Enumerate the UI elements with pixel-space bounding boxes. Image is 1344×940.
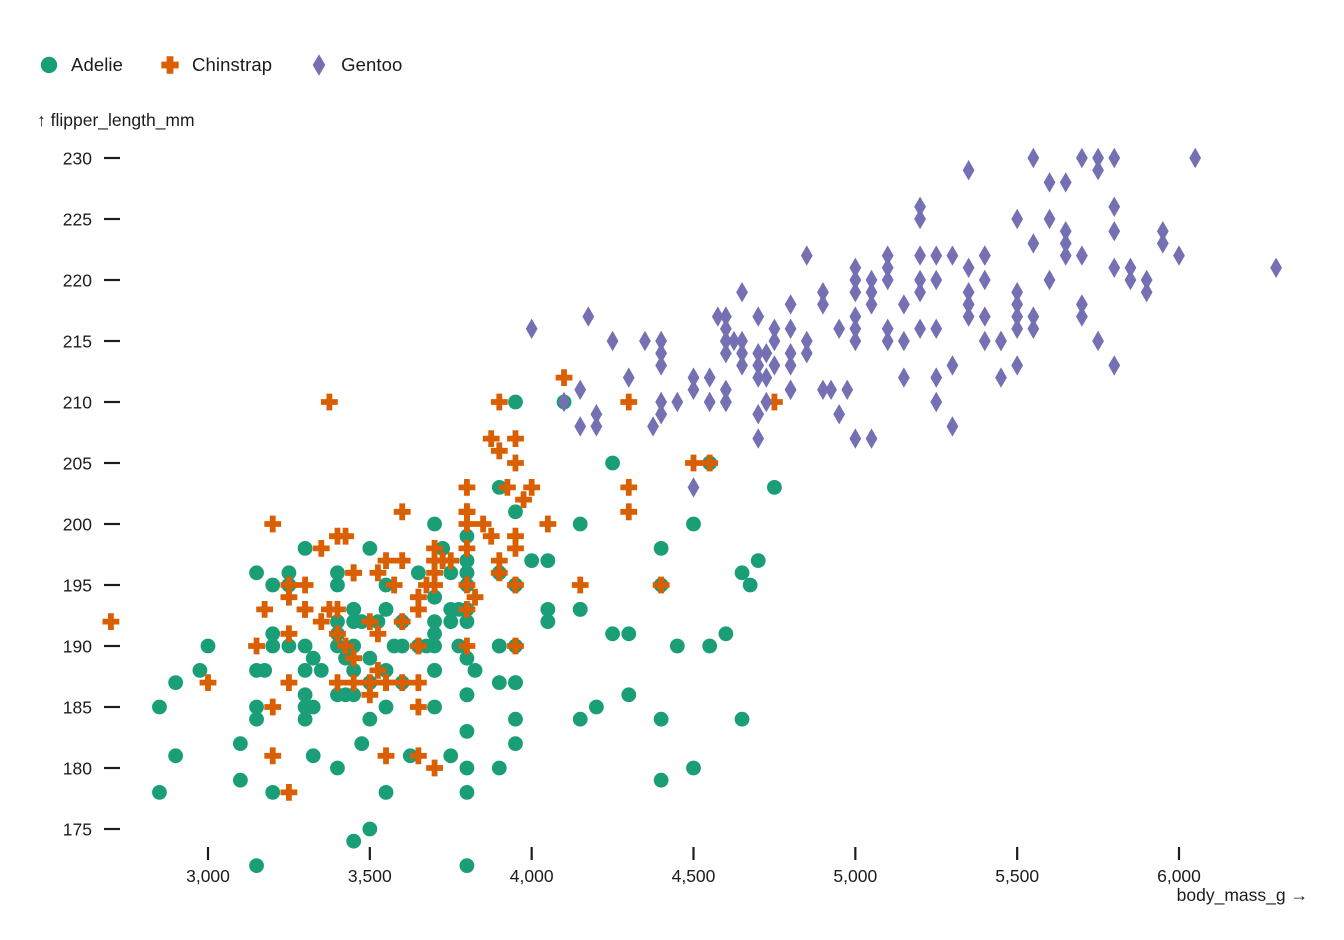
data-point-adelie	[306, 651, 321, 666]
data-point-gentoo	[1044, 209, 1056, 229]
data-point-chinstrap	[620, 394, 637, 411]
y-tick-label: 200	[63, 515, 92, 535]
data-point-adelie	[427, 614, 442, 629]
data-point-gentoo	[833, 319, 845, 339]
data-point-gentoo	[688, 367, 700, 387]
data-point-chinstrap	[313, 540, 330, 557]
data-point-adelie	[735, 712, 750, 727]
data-point-gentoo	[769, 331, 781, 351]
data-point-gentoo	[785, 355, 797, 375]
data-point-gentoo	[574, 380, 586, 400]
data-point-adelie	[492, 761, 507, 776]
data-point-chinstrap	[620, 503, 637, 520]
data-point-gentoo	[898, 331, 910, 351]
data-point-adelie	[298, 700, 313, 715]
data-point-gentoo	[963, 282, 975, 302]
data-point-chinstrap	[556, 369, 573, 386]
data-point-gentoo	[1141, 270, 1153, 290]
data-point-gentoo	[752, 428, 764, 448]
data-point-gentoo	[1173, 245, 1185, 265]
x-tick-label: 3,500	[348, 866, 392, 886]
data-point-gentoo	[1076, 245, 1088, 265]
data-point-adelie	[460, 761, 475, 776]
data-point-chinstrap	[248, 638, 265, 655]
data-point-gentoo	[1108, 221, 1120, 241]
data-point-gentoo	[1189, 148, 1201, 168]
data-point-gentoo	[736, 282, 748, 302]
data-point-adelie	[743, 578, 758, 593]
data-point-chinstrap	[491, 552, 508, 569]
data-point-gentoo	[833, 404, 845, 424]
data-point-chinstrap	[394, 674, 411, 691]
data-point-gentoo	[841, 380, 853, 400]
data-point-adelie	[395, 639, 410, 654]
data-point-adelie	[735, 565, 750, 580]
data-point-adelie	[265, 785, 280, 800]
data-point-chinstrap	[321, 394, 338, 411]
x-tick-label: 6,000	[1157, 866, 1201, 886]
data-point-adelie	[249, 712, 264, 727]
data-point-gentoo	[526, 319, 538, 339]
x-tick-label: 5,000	[833, 866, 877, 886]
data-point-adelie	[362, 651, 377, 666]
data-point-adelie	[702, 639, 717, 654]
data-point-chinstrap	[378, 747, 395, 764]
data-point-gentoo	[930, 392, 942, 412]
data-point-chinstrap	[507, 577, 524, 594]
y-tick-label: 195	[63, 576, 92, 596]
y-tick-label: 225	[63, 210, 92, 230]
data-point-gentoo	[720, 392, 732, 412]
data-point-gentoo	[574, 416, 586, 436]
data-point-adelie	[605, 456, 620, 471]
series-adelie	[152, 395, 782, 873]
series-chinstrap	[103, 369, 783, 801]
data-point-gentoo	[1125, 270, 1137, 290]
data-point-gentoo	[979, 306, 991, 326]
data-point-adelie	[257, 663, 272, 678]
y-axis: 175180185190195200205210215220225230	[63, 149, 120, 840]
data-point-gentoo	[930, 319, 942, 339]
data-point-gentoo	[1011, 209, 1023, 229]
data-point-adelie	[460, 687, 475, 702]
data-point-adelie	[508, 395, 523, 410]
data-point-chinstrap	[459, 503, 476, 520]
data-point-adelie	[306, 748, 321, 763]
data-point-adelie	[589, 700, 604, 715]
data-point-adelie	[443, 748, 458, 763]
data-point-chinstrap	[459, 479, 476, 496]
data-point-gentoo	[930, 245, 942, 265]
data-point-adelie	[605, 626, 620, 641]
data-point-chinstrap	[539, 516, 556, 533]
data-point-gentoo	[1027, 148, 1039, 168]
y-tick-label: 185	[63, 698, 92, 718]
data-point-gentoo	[1011, 282, 1023, 302]
data-point-adelie	[460, 785, 475, 800]
data-point-gentoo	[1011, 355, 1023, 375]
data-point-gentoo	[947, 355, 959, 375]
y-tick-label: 210	[63, 393, 92, 413]
data-point-gentoo	[1108, 148, 1120, 168]
data-point-gentoo	[866, 428, 878, 448]
data-point-adelie	[298, 639, 313, 654]
y-tick-label: 175	[63, 820, 92, 840]
data-point-adelie	[354, 736, 369, 751]
data-point-adelie	[379, 602, 394, 617]
data-point-adelie	[298, 541, 313, 556]
data-point-adelie	[152, 785, 167, 800]
data-point-adelie	[460, 724, 475, 739]
data-point-chinstrap	[620, 479, 637, 496]
data-point-chinstrap	[685, 455, 702, 472]
data-point-chinstrap	[394, 552, 411, 569]
data-point-adelie	[508, 504, 523, 519]
data-point-adelie	[508, 736, 523, 751]
data-point-adelie	[427, 517, 442, 532]
data-point-gentoo	[914, 197, 926, 217]
data-point-chinstrap	[701, 455, 718, 472]
data-point-gentoo	[655, 404, 667, 424]
data-point-chinstrap	[459, 540, 476, 557]
x-axis: 3,0003,5004,0004,5005,0005,5006,000	[186, 847, 1201, 886]
data-point-adelie	[193, 663, 208, 678]
data-point-gentoo	[720, 306, 732, 326]
data-point-gentoo	[979, 270, 991, 290]
data-point-adelie	[362, 822, 377, 837]
data-point-chinstrap	[394, 503, 411, 520]
data-point-adelie	[524, 553, 539, 568]
data-point-adelie	[468, 663, 483, 678]
data-point-gentoo	[1076, 306, 1088, 326]
data-point-gentoo	[688, 477, 700, 497]
data-point-gentoo	[801, 245, 813, 265]
data-point-gentoo	[1060, 172, 1072, 192]
data-point-gentoo	[817, 380, 829, 400]
data-point-chinstrap	[264, 747, 281, 764]
data-point-gentoo	[947, 245, 959, 265]
data-point-adelie	[362, 541, 377, 556]
data-point-adelie	[492, 639, 507, 654]
data-point-adelie	[654, 773, 669, 788]
data-point-gentoo	[1044, 270, 1056, 290]
data-point-gentoo	[914, 245, 926, 265]
data-point-adelie	[540, 553, 555, 568]
data-point-adelie	[767, 480, 782, 495]
data-point-adelie	[379, 785, 394, 800]
data-point-adelie	[152, 700, 167, 715]
data-point-chinstrap	[491, 394, 508, 411]
data-point-adelie	[460, 858, 475, 873]
data-point-chinstrap	[256, 601, 273, 618]
data-point-chinstrap	[281, 577, 298, 594]
data-point-gentoo	[849, 306, 861, 326]
data-point-adelie	[346, 834, 361, 849]
data-point-gentoo	[752, 355, 764, 375]
data-point-gentoo	[558, 392, 570, 412]
data-point-gentoo	[947, 416, 959, 436]
data-point-adelie	[654, 541, 669, 556]
data-point-adelie	[686, 761, 701, 776]
data-point-adelie	[508, 712, 523, 727]
y-tick-label: 230	[63, 149, 92, 169]
data-point-gentoo	[979, 245, 991, 265]
data-point-chinstrap	[297, 577, 314, 594]
data-point-adelie	[201, 639, 216, 654]
data-point-gentoo	[1092, 331, 1104, 351]
data-point-adelie	[362, 712, 377, 727]
data-point-gentoo	[817, 282, 829, 302]
data-point-chinstrap	[410, 699, 427, 716]
x-tick-label: 3,000	[186, 866, 230, 886]
data-point-gentoo	[623, 367, 635, 387]
data-point-chinstrap	[507, 455, 524, 472]
data-point-adelie	[686, 517, 701, 532]
data-point-adelie	[540, 614, 555, 629]
data-point-adelie	[233, 736, 248, 751]
data-point-gentoo	[963, 258, 975, 278]
data-point-chinstrap	[394, 613, 411, 630]
data-point-chinstrap	[281, 625, 298, 642]
data-point-gentoo	[995, 367, 1007, 387]
data-point-adelie	[427, 663, 442, 678]
data-point-gentoo	[752, 306, 764, 326]
data-point-adelie	[314, 663, 329, 678]
data-point-adelie	[411, 565, 426, 580]
data-point-gentoo	[655, 343, 667, 363]
data-marks	[103, 148, 1283, 873]
x-tick-label: 4,500	[672, 866, 716, 886]
data-point-gentoo	[882, 258, 894, 278]
plot-area: 175180185190195200205210215220225230 3,0…	[0, 0, 1344, 940]
y-tick-label: 215	[63, 332, 92, 352]
data-point-chinstrap	[297, 601, 314, 618]
data-point-adelie	[249, 858, 264, 873]
data-point-gentoo	[849, 258, 861, 278]
data-point-gentoo	[647, 416, 659, 436]
data-point-adelie	[330, 761, 345, 776]
data-point-gentoo	[898, 294, 910, 314]
data-point-chinstrap	[264, 516, 281, 533]
data-point-adelie	[654, 712, 669, 727]
data-point-gentoo	[930, 367, 942, 387]
data-point-gentoo	[849, 282, 861, 302]
data-point-gentoo	[1108, 258, 1120, 278]
data-point-gentoo	[785, 294, 797, 314]
data-point-adelie	[751, 553, 766, 568]
y-tick-label: 220	[63, 271, 92, 291]
data-point-gentoo	[760, 343, 772, 363]
data-point-adelie	[379, 700, 394, 715]
data-point-chinstrap	[345, 564, 362, 581]
data-point-gentoo	[769, 355, 781, 375]
data-point-chinstrap	[264, 699, 281, 716]
data-point-gentoo	[1157, 233, 1169, 253]
data-point-gentoo	[671, 392, 683, 412]
data-point-chinstrap	[281, 784, 298, 801]
data-point-chinstrap	[572, 577, 589, 594]
data-point-gentoo	[914, 319, 926, 339]
y-tick-label: 180	[63, 759, 92, 779]
data-point-adelie	[298, 663, 313, 678]
data-point-gentoo	[882, 319, 894, 339]
data-point-adelie	[573, 517, 588, 532]
data-point-gentoo	[849, 428, 861, 448]
data-point-chinstrap	[426, 760, 443, 777]
data-point-gentoo	[639, 331, 651, 351]
data-point-gentoo	[704, 367, 716, 387]
data-point-gentoo	[979, 331, 991, 351]
y-tick-label: 190	[63, 637, 92, 657]
data-point-gentoo	[1108, 197, 1120, 217]
data-point-adelie	[492, 675, 507, 690]
data-point-gentoo	[963, 306, 975, 326]
data-point-gentoo	[785, 319, 797, 339]
data-point-adelie	[168, 675, 183, 690]
data-point-gentoo	[1076, 148, 1088, 168]
data-point-gentoo	[591, 416, 603, 436]
data-point-gentoo	[866, 282, 878, 302]
data-point-adelie	[573, 712, 588, 727]
data-point-chinstrap	[507, 528, 524, 545]
data-point-adelie	[233, 773, 248, 788]
data-point-gentoo	[1044, 172, 1056, 192]
series-gentoo	[526, 148, 1282, 498]
data-point-adelie	[265, 578, 280, 593]
data-point-gentoo	[914, 270, 926, 290]
data-point-gentoo	[1270, 258, 1282, 278]
data-point-chinstrap	[507, 430, 524, 447]
data-point-gentoo	[704, 392, 716, 412]
data-point-adelie	[427, 700, 442, 715]
data-point-gentoo	[736, 355, 748, 375]
x-tick-label: 4,000	[510, 866, 554, 886]
data-point-chinstrap	[653, 577, 670, 594]
data-point-gentoo	[801, 331, 813, 351]
data-point-adelie	[330, 565, 345, 580]
data-point-gentoo	[1108, 355, 1120, 375]
data-point-chinstrap	[410, 674, 427, 691]
data-point-gentoo	[582, 306, 594, 326]
data-point-chinstrap	[281, 674, 298, 691]
data-point-gentoo	[607, 331, 619, 351]
data-point-adelie	[265, 639, 280, 654]
data-point-gentoo	[752, 404, 764, 424]
data-point-gentoo	[898, 367, 910, 387]
data-point-chinstrap	[507, 638, 524, 655]
data-point-adelie	[621, 687, 636, 702]
data-point-gentoo	[930, 270, 942, 290]
data-point-adelie	[621, 626, 636, 641]
data-point-gentoo	[1027, 233, 1039, 253]
data-point-adelie	[718, 626, 733, 641]
y-tick-label: 205	[63, 454, 92, 474]
data-point-gentoo	[1011, 319, 1023, 339]
data-point-gentoo	[1092, 148, 1104, 168]
data-point-adelie	[168, 748, 183, 763]
data-point-adelie	[249, 565, 264, 580]
data-point-gentoo	[963, 160, 975, 180]
data-point-gentoo	[995, 331, 1007, 351]
data-point-gentoo	[785, 380, 797, 400]
scatter-plot-figure: Adelie Chinstrap Gentoo ↑ flipper_length…	[0, 0, 1344, 940]
data-point-adelie	[573, 602, 588, 617]
data-point-chinstrap	[103, 613, 120, 630]
x-tick-label: 5,500	[995, 866, 1039, 886]
data-point-adelie	[346, 614, 361, 629]
data-point-adelie	[670, 639, 685, 654]
data-point-gentoo	[760, 392, 772, 412]
data-point-gentoo	[1060, 233, 1072, 253]
data-point-adelie	[443, 602, 458, 617]
data-point-adelie	[508, 675, 523, 690]
data-point-gentoo	[1027, 306, 1039, 326]
data-point-gentoo	[736, 331, 748, 351]
